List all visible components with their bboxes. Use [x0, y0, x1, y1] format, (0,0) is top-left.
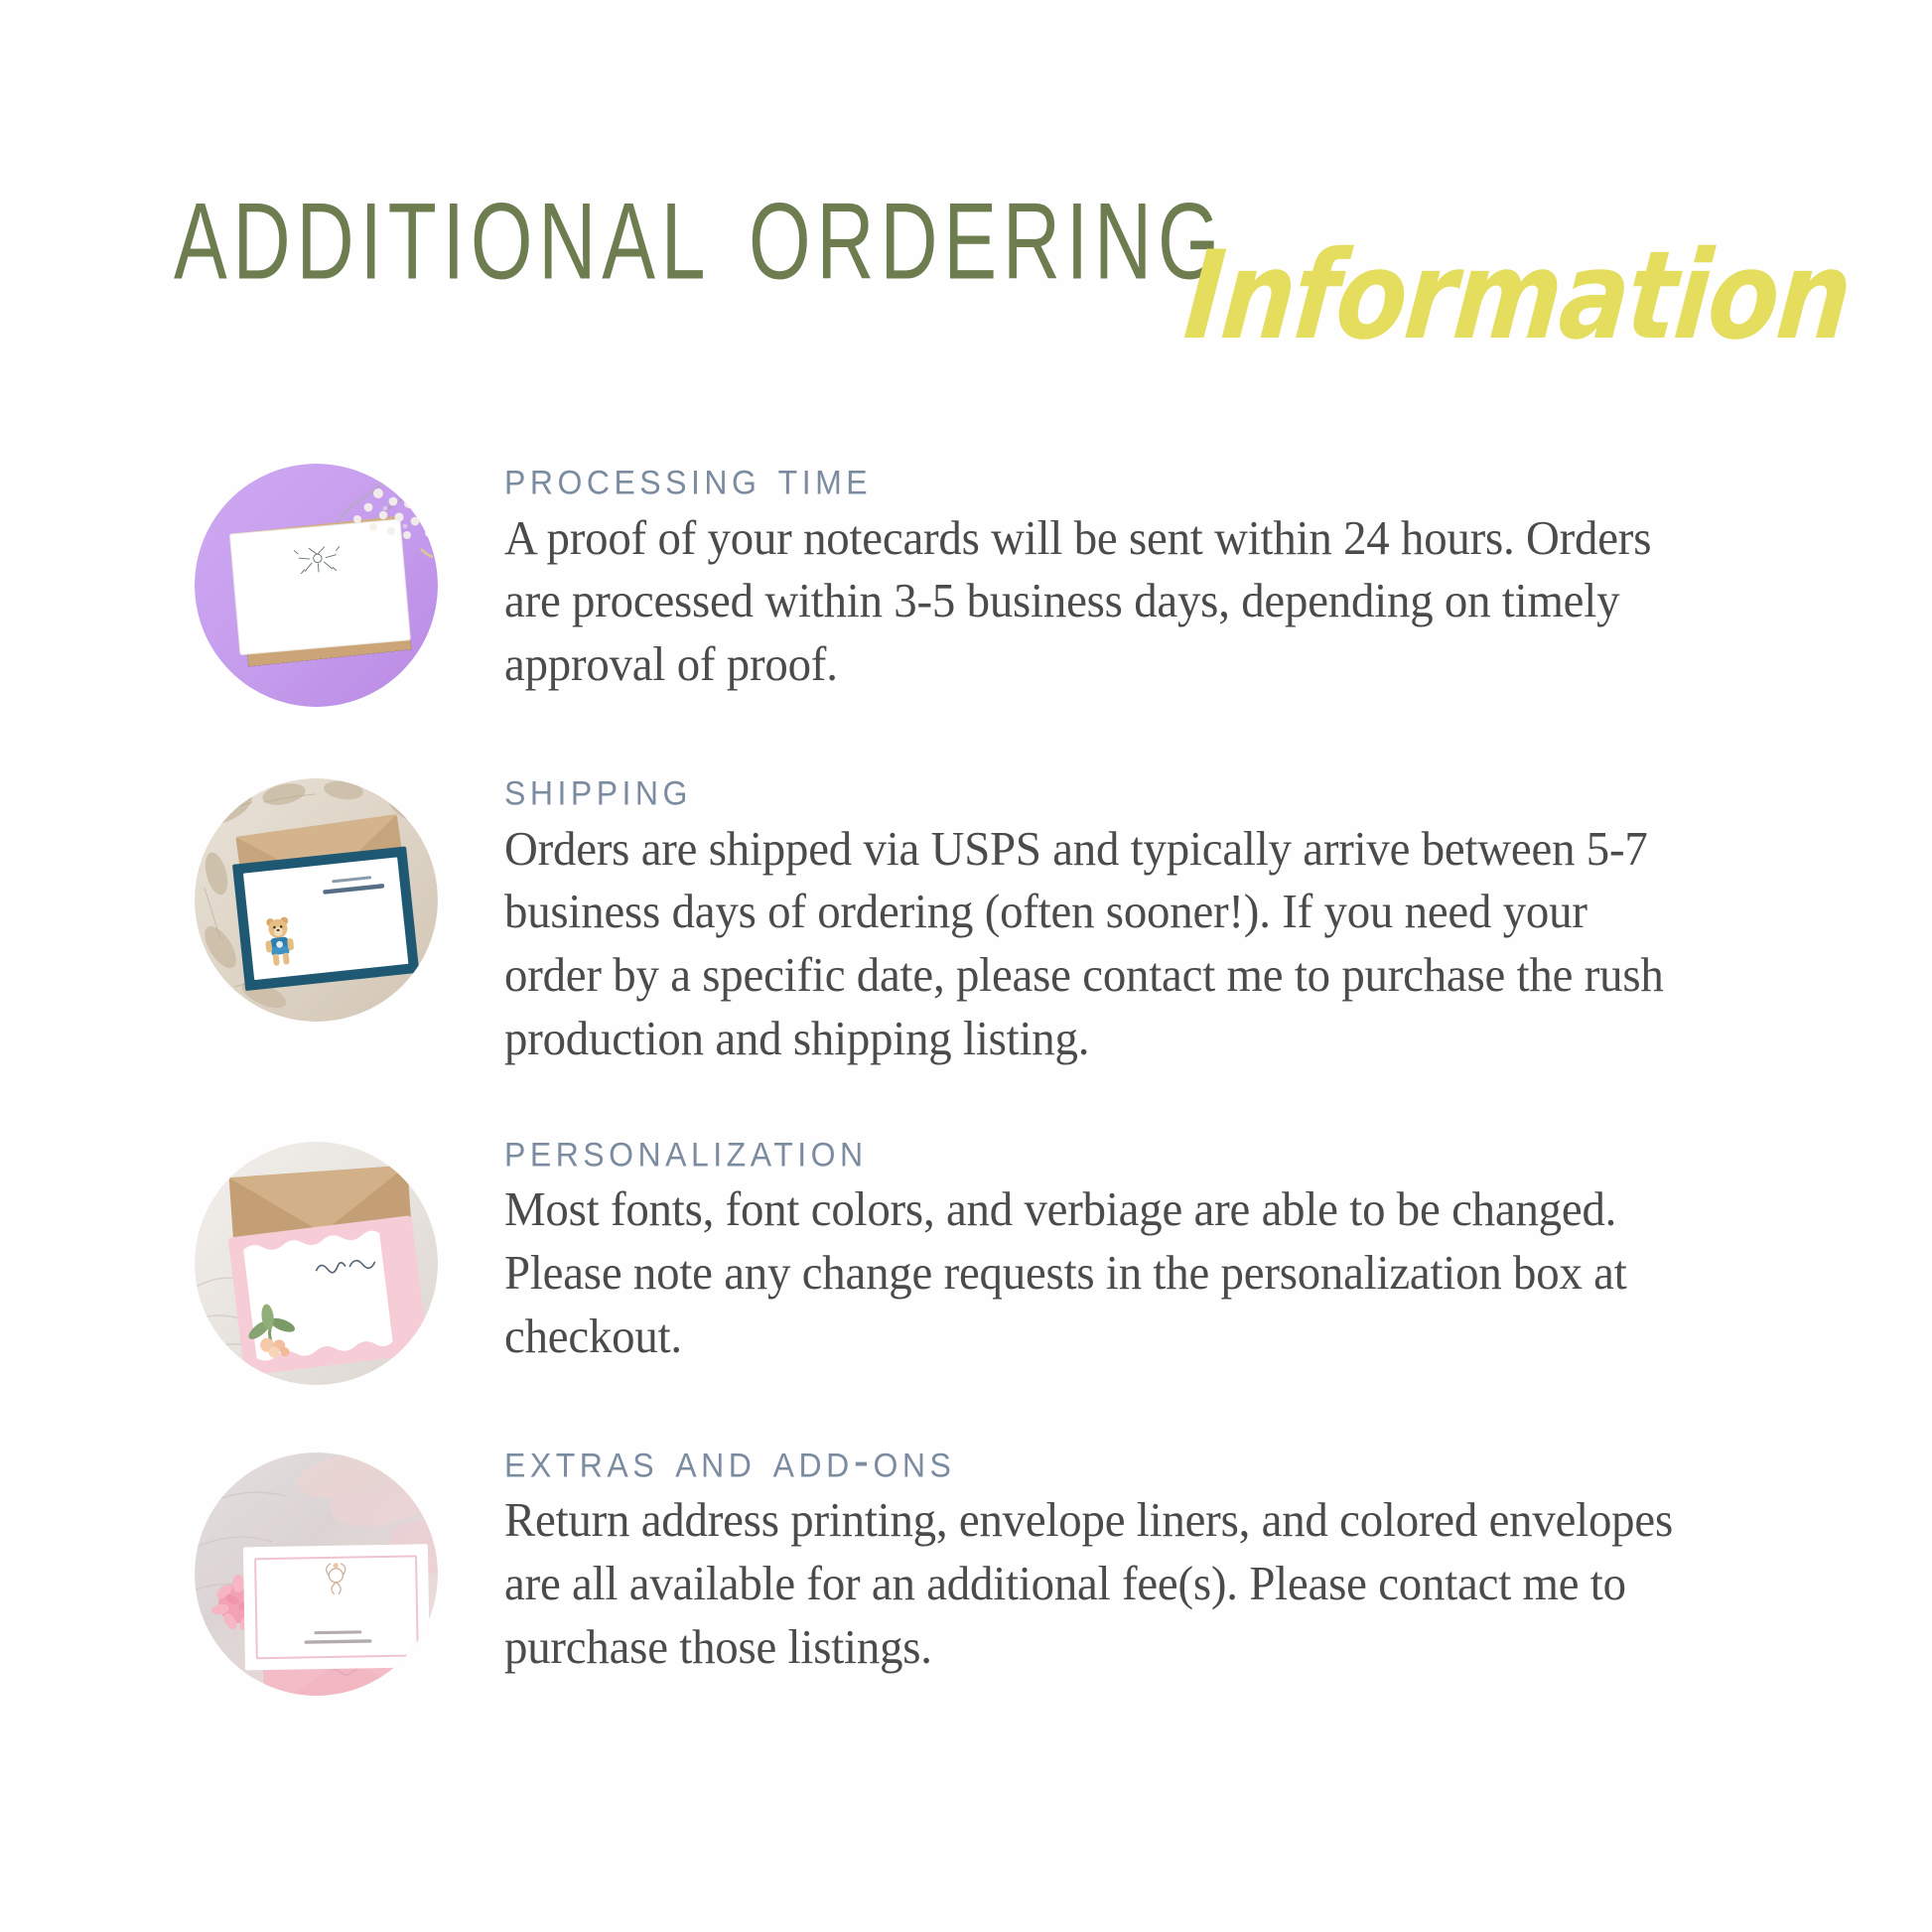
lavender-notecard-photo [195, 464, 438, 707]
section-heading-personalization: Personalization [504, 1124, 1750, 1175]
sections-list: Processing Time A proof of your notecard… [0, 452, 1932, 1696]
section-personalization: Personalization Most fonts, font colors,… [0, 1124, 1932, 1385]
pink-envelope-notecard-photo [195, 1452, 438, 1696]
section-text-extras-and-add-ons: Return address printing, envelope liners… [504, 1488, 1695, 1678]
section-body: Personalization Most fonts, font colors,… [438, 1124, 1750, 1368]
section-text-processing-time: A proof of your notecards will be sent w… [504, 506, 1695, 696]
page-title-script: Information [1180, 234, 1855, 356]
section-body: Extras and Add-Ons Return address printi… [438, 1435, 1750, 1679]
section-body: Processing Time A proof of your notecard… [438, 452, 1750, 696]
page-canvas: Additional Ordering Information [0, 0, 1932, 1932]
section-body: Shipping Orders are shipped via USPS and… [438, 762, 1750, 1070]
section-heading-processing-time: Processing Time [504, 452, 1750, 503]
section-shipping: Shipping Orders are shipped via USPS and… [0, 762, 1932, 1070]
section-text-shipping: Orders are shipped via USPS and typicall… [504, 817, 1695, 1070]
section-heading-extras-and-add-ons: Extras and Add-Ons [504, 1435, 1750, 1486]
page-title: Additional Ordering Information [0, 149, 1932, 407]
section-processing-time: Processing Time A proof of your notecard… [0, 452, 1932, 707]
section-text-personalization: Most fonts, font colors, and verbiage ar… [504, 1177, 1695, 1367]
pink-scallop-notecard-photo [195, 1142, 438, 1385]
section-heading-shipping: Shipping [504, 762, 1750, 814]
teddy-bear-notecard-photo [195, 778, 438, 1022]
page-title-main: Additional Ordering [174, 149, 1225, 304]
section-extras-and-add-ons: Extras and Add-Ons Return address printi… [0, 1435, 1932, 1696]
